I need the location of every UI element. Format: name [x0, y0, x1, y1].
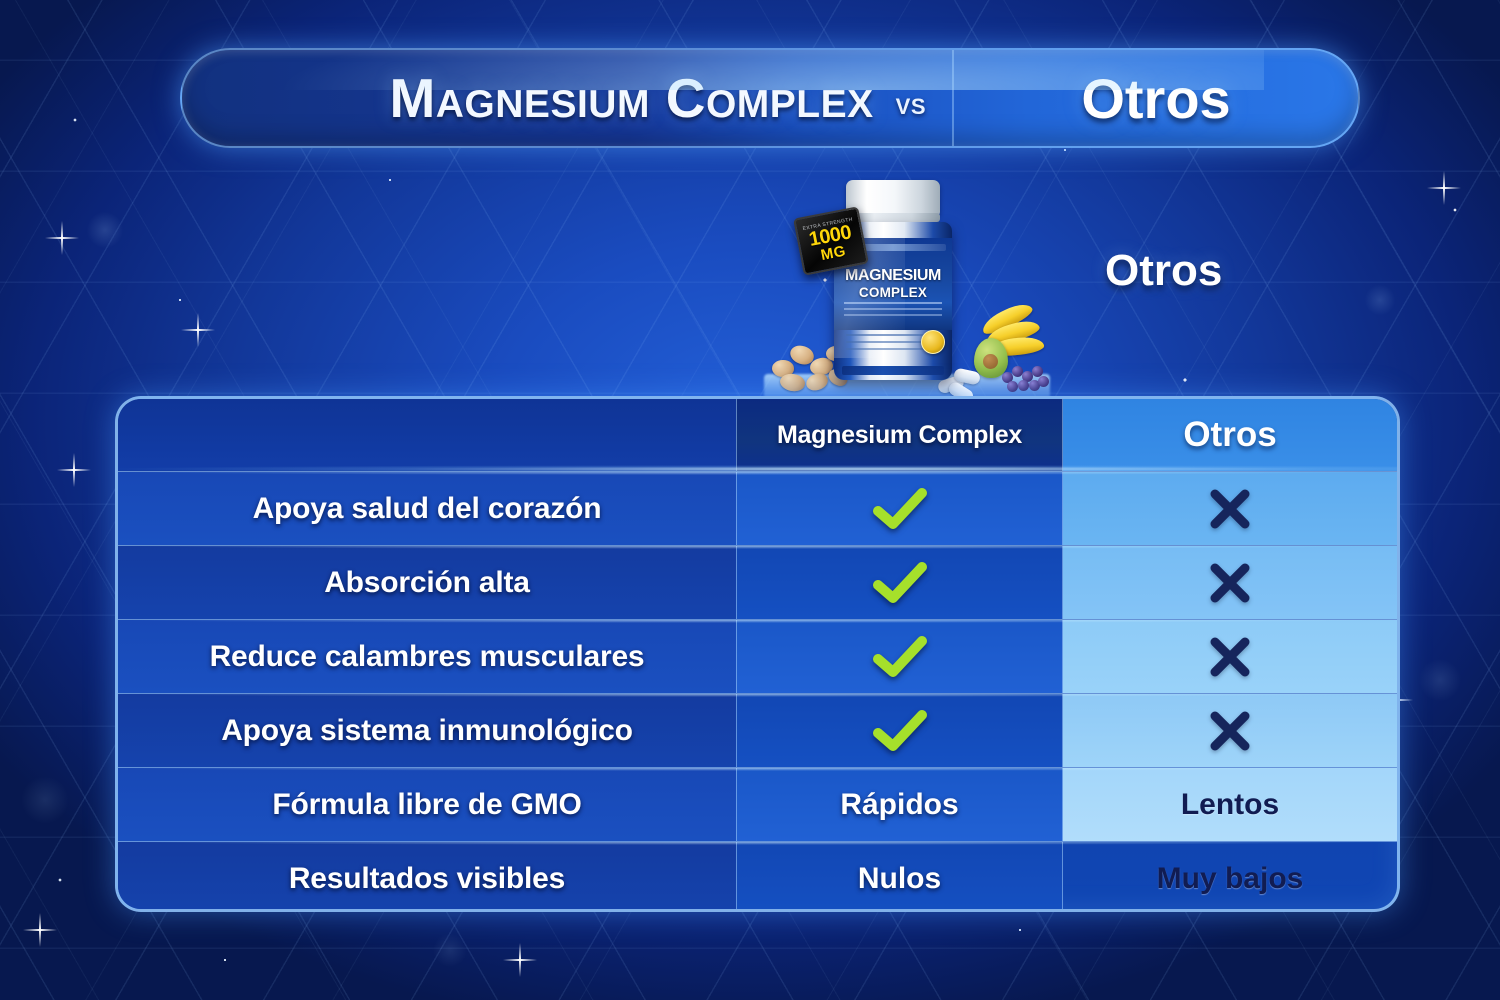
table-row: Reduce calambres musculares — [118, 619, 1397, 693]
cross-icon — [1207, 708, 1253, 754]
competitor-title: Otros — [1081, 66, 1230, 131]
cell-theirs — [1063, 546, 1397, 619]
cell-ours — [736, 546, 1063, 619]
feature-label: Reduce calambres musculares — [210, 640, 645, 674]
cross-icon — [1207, 560, 1253, 606]
cell-feature: Resultados visibles — [118, 842, 736, 912]
cell-theirs — [1063, 472, 1397, 545]
vs-label: vs — [896, 86, 926, 122]
dosage-badge: EXTRA STRENGTH 1000 MG — [793, 206, 869, 276]
hero-section: Otros — [0, 160, 1500, 405]
feature-label: Apoya sistema inmunológico — [221, 714, 633, 748]
cell-ours — [736, 472, 1063, 545]
feature-label: Fórmula libre de GMO — [272, 788, 581, 822]
table-row: Apoya salud del corazón — [118, 471, 1397, 545]
table-row: Resultados visibles Nulos Muy bajos — [118, 841, 1397, 912]
check-icon — [872, 635, 928, 679]
header-cell-ours: Magnesium Complex — [736, 399, 1063, 471]
header-cell-feature — [118, 399, 736, 471]
cell-feature: Fórmula libre de GMO — [118, 768, 736, 841]
banner-competitor-side: Otros — [952, 50, 1358, 146]
cell-ours: Nulos — [736, 842, 1063, 912]
quality-seal-icon — [921, 330, 945, 354]
grapes-cluster — [998, 360, 1050, 394]
cell-feature: Absorción alta — [118, 546, 736, 619]
cell-ours: Rápidos — [736, 768, 1063, 841]
banner-brand-side: Magnesium Complex vs — [182, 50, 952, 146]
label-footer-bar — [842, 366, 944, 375]
cell-feature: Reduce calambres musculares — [118, 620, 736, 693]
table-row: Absorción alta — [118, 545, 1397, 619]
infographic-canvas: Magnesium Complex vs Otros Otros — [0, 0, 1500, 1000]
cell-theirs — [1063, 694, 1397, 767]
cell-feature: Apoya salud del corazón — [118, 472, 736, 545]
cell-theirs: Muy bajos — [1063, 842, 1397, 912]
comparison-table: Magnesium Complex Otros Apoya salud del … — [115, 396, 1400, 912]
feature-label: Apoya salud del corazón — [253, 492, 602, 526]
table-row: Apoya sistema inmunológico — [118, 693, 1397, 767]
value-ours: Rápidos — [840, 788, 958, 822]
product-image: MAGNESIUM COMPLEX EXTRA STRENGTH 1000 MG — [762, 166, 1052, 396]
check-icon — [872, 709, 928, 753]
title-banner: Magnesium Complex vs Otros — [180, 48, 1360, 148]
feature-label: Absorción alta — [324, 566, 530, 600]
header-cell-theirs: Otros — [1063, 399, 1397, 471]
cell-theirs — [1063, 620, 1397, 693]
check-icon — [872, 487, 928, 531]
table-header-row: Magnesium Complex Otros — [118, 399, 1397, 471]
cell-ours — [736, 694, 1063, 767]
value-theirs: Lentos — [1181, 788, 1279, 822]
table-row: Fórmula libre de GMO Rápidos Lentos — [118, 767, 1397, 841]
feature-label: Resultados visibles — [289, 862, 565, 896]
bottle-cap — [846, 180, 940, 216]
cell-feature: Apoya sistema inmunológico — [118, 694, 736, 767]
hero-competitor-label: Otros — [1105, 246, 1222, 296]
value-theirs: Muy bajos — [1157, 862, 1304, 896]
cell-ours — [736, 620, 1063, 693]
cell-theirs: Lentos — [1063, 768, 1397, 841]
check-icon — [872, 561, 928, 605]
bottle-label-name: MAGNESIUM COMPLEX — [834, 268, 952, 300]
dosage-badge-unit: MG — [820, 244, 848, 264]
label-fine-print — [844, 300, 942, 324]
value-ours: Nulos — [858, 862, 941, 896]
brand-title: Magnesium Complex — [389, 66, 873, 130]
cross-icon — [1207, 634, 1253, 680]
bottle-label-line2: COMPLEX — [834, 286, 952, 300]
bottle-label-line1: MAGNESIUM — [834, 268, 952, 284]
cross-icon — [1207, 486, 1253, 532]
